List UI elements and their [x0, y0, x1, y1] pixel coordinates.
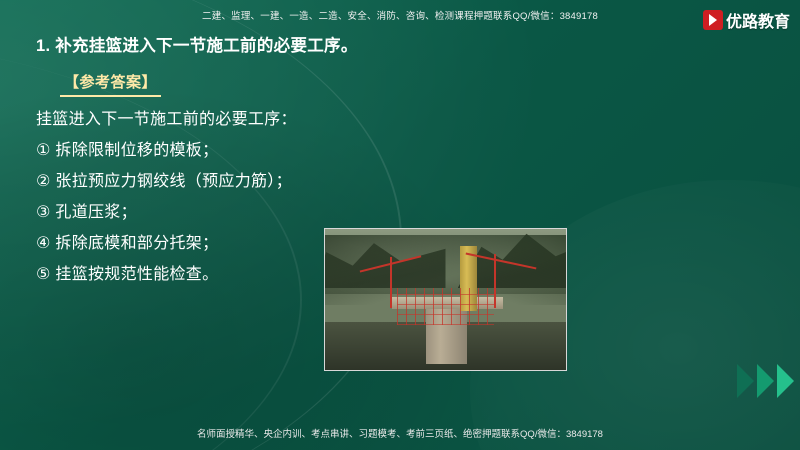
play-badge-icon [703, 10, 723, 30]
header-banner-text: 二建、监理、一建、一造、二造、安全、消防、咨询、检测课程押题联系QQ/微信：38… [0, 8, 800, 22]
bridge-construction-photo [324, 228, 567, 371]
photo-crane-mast-right [494, 254, 496, 308]
photo-scaffolding [397, 288, 493, 325]
answer-line: 挂篮进入下一节施工前的必要工序： [36, 104, 366, 135]
chevron-right-icon [757, 364, 774, 398]
answer-line: ③ 孔道压浆； [36, 197, 366, 228]
question-title: 1. 补充挂篮进入下一节施工前的必要工序。 [36, 32, 358, 56]
chevron-right-icon [737, 364, 754, 398]
answer-line: ⑤ 挂篮按规范性能检查。 [36, 259, 366, 290]
decor-chevron-group [734, 364, 794, 398]
chevron-right-icon [777, 364, 794, 398]
brand-logo: 优路教育 [703, 8, 790, 32]
answer-line: ① 拆除限制位移的模板； [36, 135, 366, 166]
answer-body: 挂篮进入下一节施工前的必要工序： ① 拆除限制位移的模板； ② 张拉预应力钢绞线… [36, 104, 366, 290]
answer-line: ④ 拆除底模和部分托架； [36, 228, 366, 259]
brand-logo-text: 优路教育 [726, 8, 790, 32]
answer-badge: 【参考答案】 [60, 69, 161, 97]
answer-line: ② 张拉预应力钢绞线（预应力筋）； [36, 166, 366, 197]
footer-note: 名师面授精华、央企内训、考点串讲、习题模考、考前三页纸、绝密押题联系QQ/微信：… [0, 426, 800, 440]
slide-root: 二建、监理、一建、一造、二造、安全、消防、咨询、检测课程押题联系QQ/微信：38… [0, 0, 800, 450]
